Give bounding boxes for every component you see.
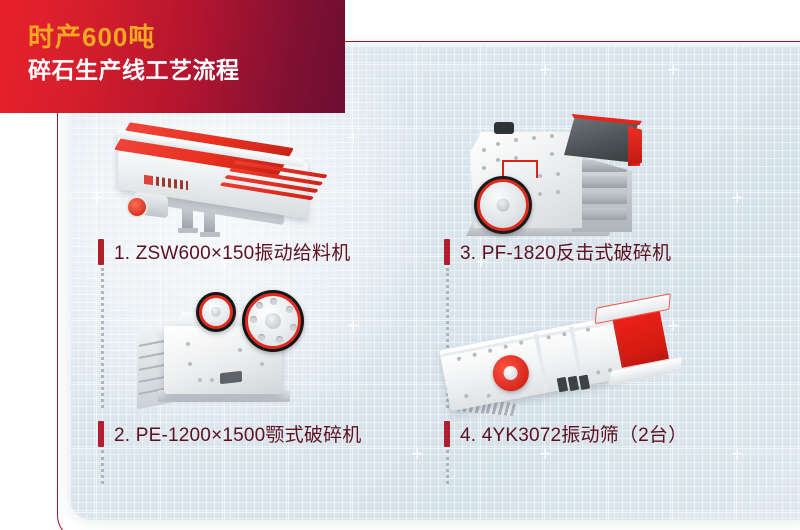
crusher-red-bracket [502, 160, 538, 178]
caption-accent-bar [98, 421, 104, 447]
feeder-exciter-hub [126, 196, 148, 218]
crusher-feed-hopper [564, 118, 638, 162]
sparkle-icon [412, 448, 423, 459]
caption-impact-crusher: 3. PF-1820反击式破碎机 [444, 238, 671, 265]
banner-headline: 时产600吨 [28, 22, 240, 53]
vibrating-feeder-art [108, 126, 338, 234]
caption-jaw-crusher: 2. PE-1200×1500颚式破碎机 [98, 420, 361, 447]
connector-line-right-bottom [446, 450, 449, 484]
machine-image-jaw-crusher [134, 286, 364, 410]
caption-accent-bar [98, 239, 104, 265]
sparkle-icon [92, 192, 103, 203]
connector-line-left-bottom [101, 450, 104, 484]
crusher-hopper-side-panel [628, 122, 642, 166]
sparkle-icon [732, 448, 743, 459]
connector-line-left [101, 268, 104, 408]
major-grid-pattern [70, 46, 800, 520]
title-banner-text: 时产600吨 碎石生产线工艺流程 [28, 22, 240, 84]
crusher-flywheel [474, 176, 532, 234]
jaw-flywheel-front [242, 290, 304, 352]
caption-text: 4. 4YK3072振动筛（2台） [460, 420, 687, 447]
jaw-flywheel-rear [196, 292, 236, 332]
caption-text: 2. PE-1200×1500颚式破碎机 [114, 420, 361, 447]
jaw-crusher-art [134, 286, 334, 410]
impact-crusher-art [452, 112, 652, 238]
sparkle-icon [540, 448, 551, 459]
sparkle-icon [668, 64, 679, 75]
content-card [70, 46, 800, 520]
vibrating-screen-art [423, 271, 691, 436]
caption-vibrating-screen: 4. 4YK3072振动筛（2台） [444, 420, 687, 447]
caption-vibrating-feeder: 1. ZSW600×150振动给料机 [98, 238, 350, 265]
jaw-inspection-port [220, 371, 242, 384]
caption-accent-bar [444, 421, 450, 447]
banner-subheadline: 碎石生产线工艺流程 [28, 57, 240, 85]
title-banner: 时产600吨 碎石生产线工艺流程 [0, 0, 345, 113]
machine-image-vibrating-feeder [108, 126, 358, 234]
sparkle-icon [540, 64, 551, 75]
poster-stage: 时产600吨 碎石生产线工艺流程 1. ZSW600×150振动给料机 [0, 0, 800, 530]
caption-text: 3. PF-1820反击式破碎机 [460, 238, 671, 265]
feeder-foot [200, 232, 220, 237]
crusher-top-motor [494, 122, 514, 134]
machine-image-impact-crusher [452, 112, 682, 238]
caption-text: 1. ZSW600×150振动给料机 [114, 238, 350, 265]
sparkle-icon [732, 192, 743, 203]
machine-image-vibrating-screen [432, 294, 688, 414]
caption-accent-bar [444, 239, 450, 265]
feeder-foot [178, 228, 198, 233]
